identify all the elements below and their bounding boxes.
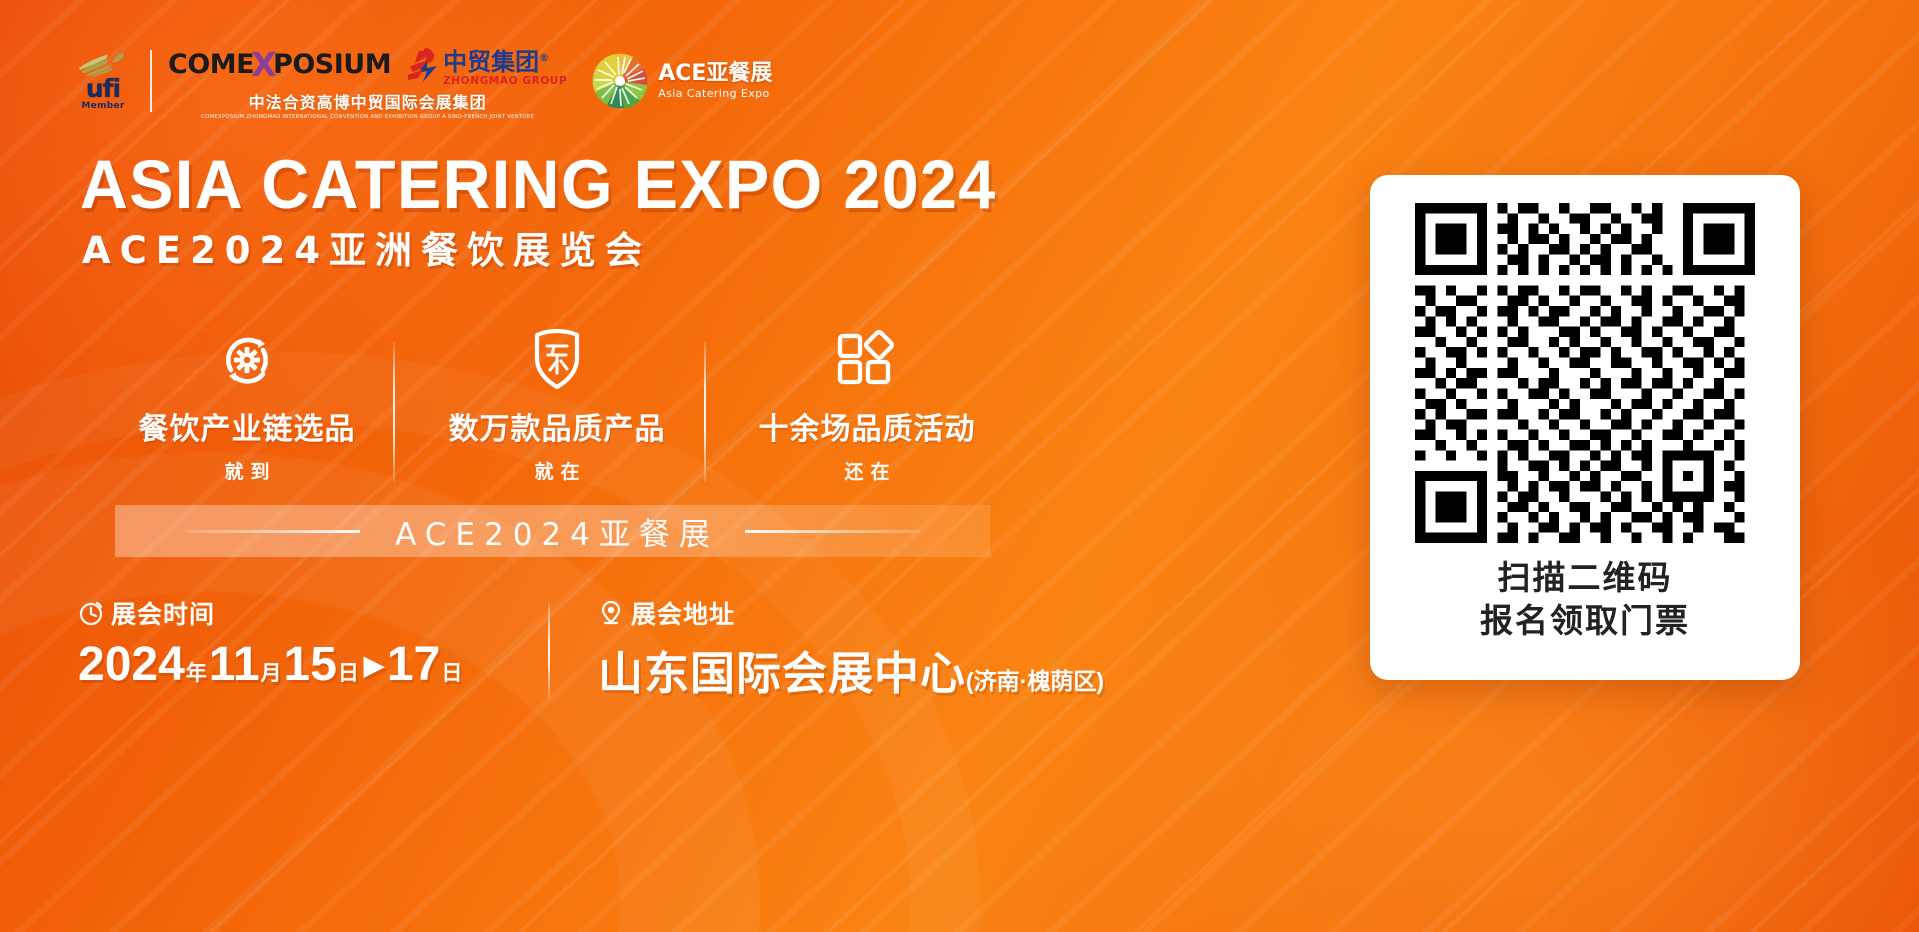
feature-label-main: 餐饮产业链选品 — [139, 404, 356, 448]
event-address-block: 展会地址 山东国际会展中心(济南·槐荫区) — [598, 595, 1104, 702]
band-decor-line-left — [185, 530, 360, 533]
event-time-value: 2024年11月15日▶17日 — [78, 637, 464, 692]
clock-icon — [78, 600, 104, 626]
qr-caption-line-2: 报名领取门票 — [1480, 600, 1690, 643]
event-shortname-band: ACE2024亚餐展 — [115, 505, 990, 557]
ace-logo-cn: ACE亚餐展 — [658, 62, 772, 85]
qr-caption-line-1: 扫描二维码 — [1480, 557, 1690, 600]
ace-pinwheel-icon — [589, 50, 651, 112]
zhongmao-logo: 中贸集团® ZHONGMAO GROUP — [405, 42, 567, 87]
location-pin-icon — [598, 600, 624, 626]
gear-cycle-icon — [218, 330, 276, 388]
logo-divider — [150, 50, 152, 112]
zhongmao-cn-wordmark: 中贸集团® — [443, 42, 567, 77]
qr-code-image[interactable] — [1415, 203, 1755, 543]
event-district: (济南·槐荫区) — [966, 668, 1104, 694]
feature-label-main: 数万款品质产品 — [449, 404, 666, 448]
zhongmao-cn-text: 中贸集团 — [443, 48, 539, 76]
ace-expo-logo: ACE亚餐展 Asia Catering Expo — [589, 50, 772, 112]
zhongmao-bird-icon — [405, 47, 439, 83]
comexposium-wordmark: COME X POSIUM — [168, 45, 391, 84]
banner-canvas: ufi Member COME X POSIUM — [0, 0, 1919, 932]
event-venue: 山东国际会展中心 — [598, 647, 966, 700]
comexposium-en-fullname: COMEXPOSIUM ZHONGMAO INTERNATIONAL CONVE… — [201, 114, 534, 120]
event-time-label: 展会时间 — [111, 595, 215, 631]
event-time-block: 展会时间 2024年11月15日▶17日 — [78, 595, 464, 692]
feature-label-sub: 就在 — [527, 457, 586, 484]
event-day-end-unit: 日 — [441, 662, 462, 685]
shield-quality-icon — [531, 330, 583, 388]
comexposium-word-right: POSIUM — [273, 49, 391, 80]
event-day-start: 15 — [284, 638, 337, 691]
feature-label-sub: 还在 — [837, 457, 896, 484]
ufi-member-logo: ufi Member — [72, 51, 134, 111]
event-day-end: 17 — [387, 638, 440, 691]
event-month: 11 — [209, 638, 260, 691]
band-label: ACE2024亚餐展 — [386, 509, 719, 554]
zhongmao-registered-mark: ® — [539, 53, 549, 64]
comexposium-word-left: COME — [168, 49, 254, 80]
event-address-label: 展会地址 — [631, 595, 735, 631]
ufi-wordmark: ufi — [86, 77, 120, 101]
event-details: 展会时间 2024年11月15日▶17日 展会地址 山东国际会展中心(济南·槐荫… — [78, 595, 1078, 705]
event-day-start-unit: 日 — [338, 662, 359, 685]
event-month-unit: 月 — [261, 662, 282, 685]
feature-item-activities: 十余场品质活动 还在 — [712, 330, 1022, 484]
page-title-english: ASIA CATERING EXPO 2024 — [80, 150, 997, 219]
event-year: 2024 — [78, 638, 185, 691]
band-decor-line-right — [745, 530, 920, 533]
event-address-value: 山东国际会展中心(济南·槐荫区) — [598, 637, 1104, 702]
info-divider — [548, 603, 550, 699]
shapes-grid-icon — [836, 330, 898, 388]
comexposium-cn-name: 中法合资高博中贸国际会展集团 — [249, 89, 487, 113]
page-title-chinese: ACE2024亚洲餐饮展览会 — [82, 232, 651, 269]
feature-label-main: 十余场品质活动 — [759, 404, 976, 448]
ufi-member-label: Member — [81, 101, 124, 111]
qr-caption: 扫描二维码 报名领取门票 — [1480, 557, 1690, 643]
feature-item-quality-products: 数万款品质产品 就在 — [402, 330, 712, 484]
ace-logo-en: Asia Catering Expo — [658, 87, 772, 100]
partner-logo-bar: ufi Member COME X POSIUM — [72, 42, 772, 120]
feature-item-supply-chain: 餐饮产业链选品 就到 — [92, 330, 402, 484]
date-range-arrow-icon: ▶ — [364, 650, 384, 680]
feature-highlights: 餐饮产业链选品 就到 数万款品质产品 就在 — [92, 330, 1022, 480]
feature-label-sub: 就到 — [217, 457, 276, 484]
event-year-unit: 年 — [186, 662, 207, 685]
qr-registration-card[interactable]: 扫描二维码 报名领取门票 — [1370, 175, 1800, 680]
comexposium-zhongmao-logo: COME X POSIUM 中贸集团® — [168, 42, 567, 120]
